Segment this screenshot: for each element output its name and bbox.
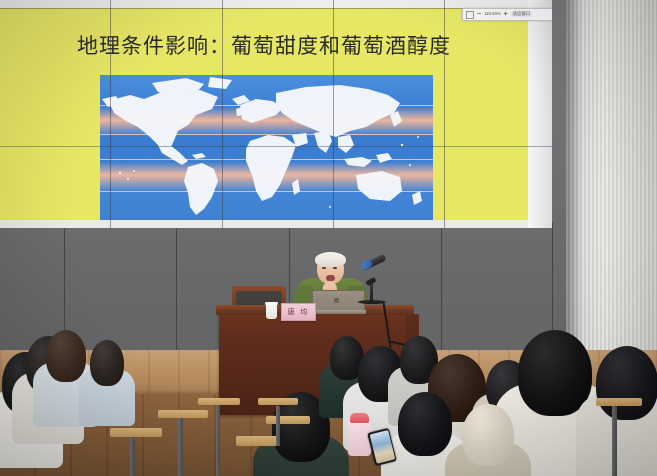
- fit-to-window-icon[interactable]: [466, 11, 474, 19]
- slide-right-margin: [528, 0, 552, 228]
- audience-left-3-head: [46, 330, 86, 382]
- seat-desk-arm: [198, 398, 240, 405]
- continents-shape: [100, 75, 433, 220]
- speaker-eye-right: [333, 267, 337, 269]
- seat-leg: [216, 405, 220, 476]
- seat-desk-arm: [158, 410, 208, 418]
- microphone-pole: [370, 282, 373, 302]
- seat-leg: [130, 437, 135, 476]
- seat-leg: [276, 406, 280, 446]
- lecture-hall-screenshot: 地理条件影响：葡萄甜度和葡萄酒醇度: [0, 0, 657, 476]
- laptop-logo: [334, 298, 339, 303]
- led-seam: [110, 0, 111, 228]
- audience-right-3-head: [596, 346, 657, 420]
- led-seam: [222, 0, 223, 228]
- led-seam: [333, 0, 334, 228]
- slide-surface: 地理条件影响：葡萄甜度和葡萄酒醇度: [0, 8, 528, 220]
- seat-desk-arm: [266, 416, 310, 424]
- slide-title: 地理条件影响：葡萄甜度和葡萄酒醇度: [0, 30, 528, 60]
- paper-cup: [266, 303, 277, 319]
- fit-window-button[interactable]: 适应窗口: [511, 12, 533, 16]
- slide-gap-bottom: [0, 220, 528, 228]
- zoom-level-label: 110.44%: [484, 12, 500, 17]
- water-bottle-cap: [350, 413, 369, 423]
- laptop-base: [309, 310, 366, 314]
- name-placard: 唐 均: [281, 303, 316, 321]
- speaker-mouth: [326, 275, 335, 281]
- audience-right-4-head: [462, 404, 514, 466]
- speaker-hair: [315, 252, 346, 267]
- ppt-zoom-toolbar[interactable]: − 110.44% + 适应窗口: [462, 8, 552, 21]
- led-presentation-screen[interactable]: 地理条件影响：葡萄甜度和葡萄酒醇度: [0, 0, 552, 228]
- zoom-out-button[interactable]: −: [477, 11, 481, 18]
- laptop[interactable]: [311, 290, 364, 314]
- audience-left-4-head: [90, 340, 124, 386]
- led-seam: [0, 146, 552, 147]
- zoom-in-button[interactable]: +: [504, 11, 508, 18]
- paper-cup-rim: [265, 302, 278, 305]
- slide-gap-top: [0, 0, 528, 8]
- seat-desk-arm: [596, 398, 642, 406]
- speaker-eye-left: [322, 267, 326, 269]
- led-seam: [444, 0, 445, 228]
- seat-leg: [178, 418, 183, 476]
- audience-right-2-head: [518, 330, 592, 416]
- seat-desk-arm: [236, 436, 278, 446]
- world-map-image: [100, 75, 433, 220]
- audience-mid-6-head: [398, 392, 452, 456]
- seat-leg: [612, 406, 617, 476]
- seat-desk-arm: [110, 428, 162, 437]
- seat-desk-arm: [258, 398, 298, 405]
- name-placard-text: 唐 均: [288, 307, 310, 317]
